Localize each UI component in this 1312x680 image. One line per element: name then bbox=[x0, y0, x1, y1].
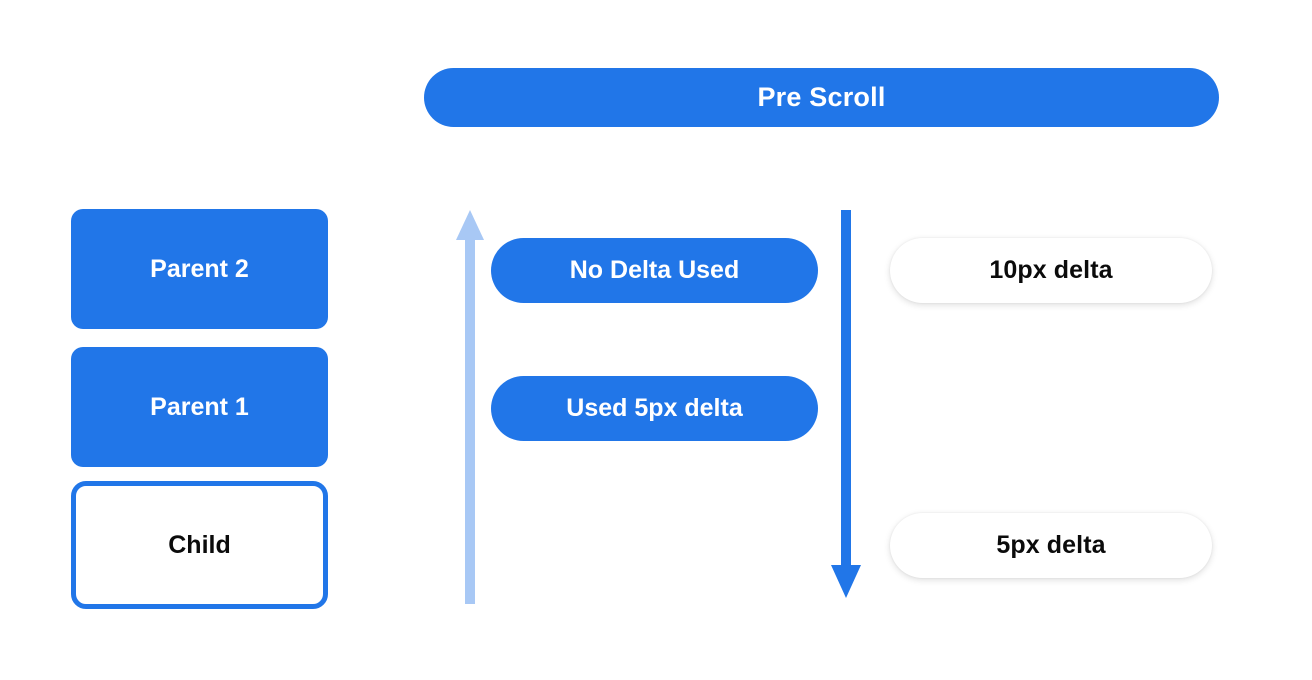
pill-5px-delta-label: 5px delta bbox=[996, 531, 1105, 560]
pill-used-5px-delta: Used 5px delta bbox=[491, 376, 818, 441]
node-parent-2: Parent 2 bbox=[71, 209, 328, 329]
pill-used-5px-delta-label: Used 5px delta bbox=[566, 394, 742, 423]
pill-no-delta-used-label: No Delta Used bbox=[570, 256, 739, 285]
pill-10px-delta: 10px delta bbox=[890, 238, 1212, 303]
pill-no-delta-used: No Delta Used bbox=[491, 238, 818, 303]
node-parent-1: Parent 1 bbox=[71, 347, 328, 467]
node-parent-2-label: Parent 2 bbox=[150, 255, 249, 284]
down-arrow-dark-icon bbox=[828, 210, 864, 600]
pre-scroll-banner: Pre Scroll bbox=[424, 68, 1219, 127]
up-arrow-light-icon bbox=[452, 208, 488, 604]
node-parent-1-label: Parent 1 bbox=[150, 393, 249, 422]
pill-5px-delta: 5px delta bbox=[890, 513, 1212, 578]
diagram-canvas: Pre Scroll Parent 2 Parent 1 Child No De… bbox=[0, 0, 1312, 680]
pre-scroll-banner-label: Pre Scroll bbox=[757, 82, 885, 113]
pill-10px-delta-label: 10px delta bbox=[989, 256, 1112, 285]
node-child-label: Child bbox=[168, 531, 231, 560]
node-child: Child bbox=[71, 481, 328, 609]
